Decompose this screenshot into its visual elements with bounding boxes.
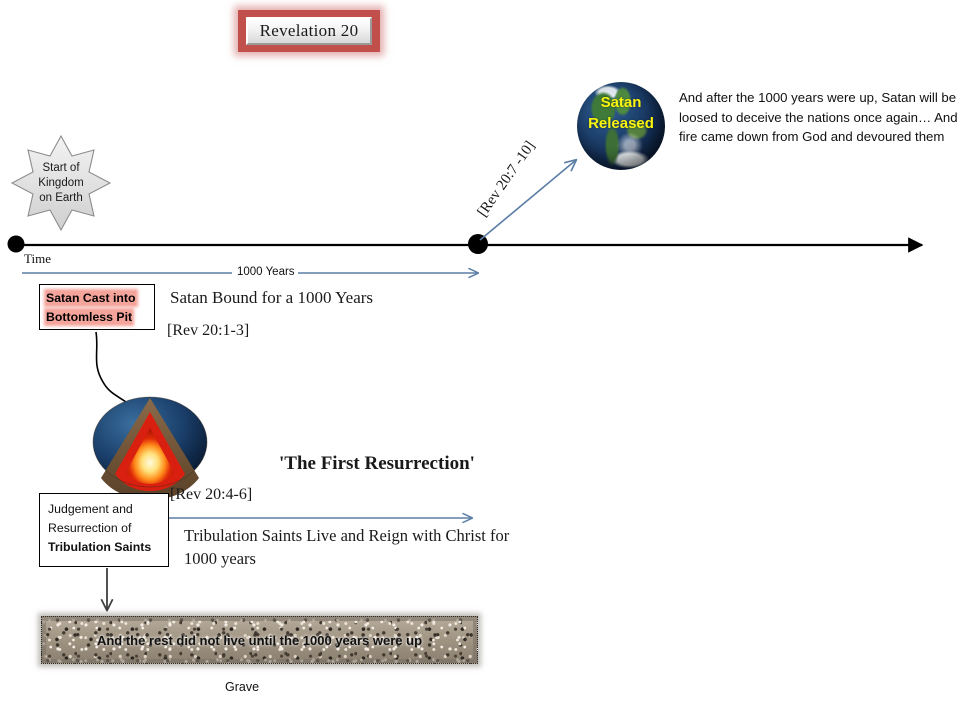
main-timeline-axis xyxy=(8,234,923,254)
verse-reference-rev-20-1-3: [Rev 20:1-3] xyxy=(167,322,249,340)
satan-bound-text: Satan Bound for a 1000 Years xyxy=(170,288,373,308)
satan-to-pit-curved-arrow xyxy=(96,332,139,414)
star-label-line3: on Earth xyxy=(39,191,82,206)
satan-box-line1: Satan Cast into xyxy=(46,291,136,305)
tribulation-saints-reign-text: Tribulation Saints Live and Reign with C… xyxy=(184,524,514,570)
judgement-resurrection-box: Judgement and Resurrection of Tribulatio… xyxy=(39,493,169,567)
satan-box-line2: Bottomless Pit xyxy=(46,310,132,324)
earth-cross-section-graphic xyxy=(93,397,207,500)
diagram-title-inner-bevel: Revelation 20 xyxy=(246,17,372,45)
grave-caption: Grave xyxy=(225,680,259,694)
thousand-years-span-label: 1000 Years xyxy=(234,266,298,278)
satan-cast-into-pit-box: Satan Cast into Bottomless Pit xyxy=(39,284,155,330)
grave-text: And the rest did not live until the 1000… xyxy=(97,633,422,648)
judgement-box-line3: Tribulation Saints xyxy=(48,538,168,557)
first-resurrection-title: 'The First Resurrection' xyxy=(279,453,475,475)
earth-globe-icon xyxy=(577,82,665,170)
grave-stone-box: And the rest did not live until the 1000… xyxy=(41,616,478,664)
diagram-title-box: Revelation 20 xyxy=(238,10,380,52)
start-of-kingdom-star-shape xyxy=(12,136,110,230)
star-label-line1: Start of xyxy=(42,161,79,176)
star-label-line2: Kingdom xyxy=(38,176,83,191)
diagram-canvas: Revelation 20 Start of Kingdom on Earth … xyxy=(0,0,959,702)
judgement-box-line2: Resurrection of xyxy=(48,519,168,538)
start-of-kingdom-label: Start of Kingdom on Earth xyxy=(22,150,100,216)
judgement-box-line1: Judgement and xyxy=(48,500,168,519)
verse-reference-rev-20-7-10: [Rev 20:7 -10] xyxy=(475,112,558,220)
page-title: Revelation 20 xyxy=(260,21,359,41)
satan-released-paragraph: And after the 1000 years were up, Satan … xyxy=(679,88,959,147)
verse-reference-rev-20-4-6: [Rev 20:4-6] xyxy=(170,486,252,504)
time-axis-label: Time xyxy=(24,251,51,267)
